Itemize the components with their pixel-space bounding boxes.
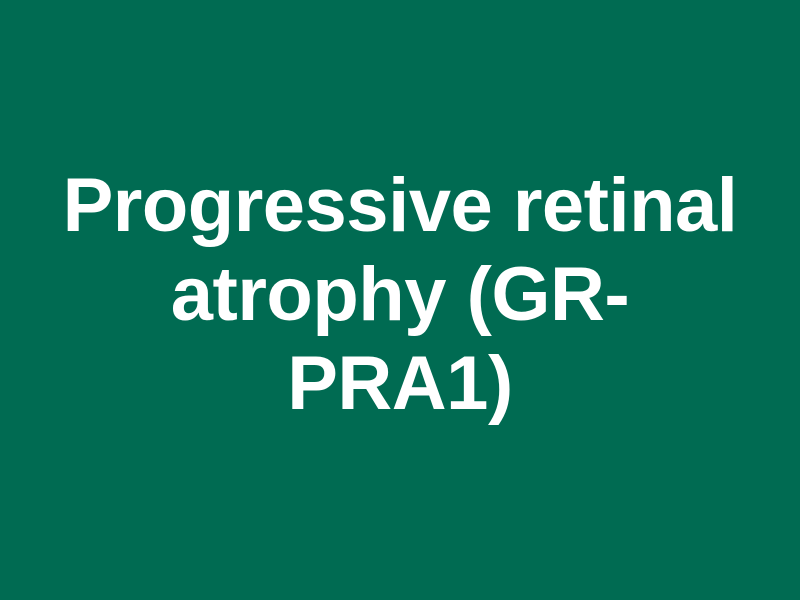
title-card: Progressive retinal atrophy (GR-PRA1) (0, 0, 800, 600)
page-title: Progressive retinal atrophy (GR-PRA1) (0, 161, 800, 428)
